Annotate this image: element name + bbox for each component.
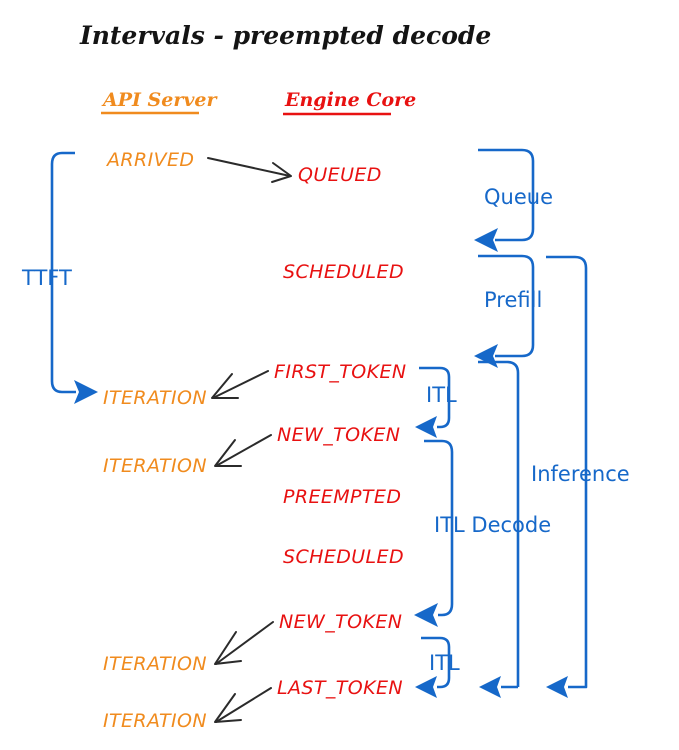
arrowhead-prefill	[474, 344, 498, 368]
arrowhead-itl-1	[415, 416, 437, 438]
interval-label-itl-1: ITL	[426, 383, 457, 407]
interval-label-itl-2: ITL	[429, 651, 460, 675]
interval-label-itl-decode: ITL Decode	[434, 513, 551, 537]
arrowhead-queue	[474, 228, 498, 252]
column-header-api-server: API Server	[101, 89, 218, 111]
column-header-engine-core: Engine Core	[284, 89, 416, 111]
state-engine-last-token: LAST_TOKEN	[277, 677, 403, 699]
page-title: Intervals - preempted decode	[79, 21, 491, 50]
state-api-arrived: ARRIVED	[105, 149, 194, 171]
state-engine-first-token: FIRST_TOKEN	[274, 361, 407, 383]
transition-arrow-first-token-to-iteration	[212, 371, 268, 398]
arrowhead-itl-decode	[414, 603, 438, 627]
transition-arrow-arrived-to-queued	[208, 158, 291, 182]
state-api-iteration-4: ITERATION	[103, 710, 207, 732]
interval-label-ttft: TTFT	[21, 266, 72, 290]
arrowhead-ttft	[74, 380, 98, 404]
state-engine-scheduled-2: SCHEDULED	[283, 546, 404, 568]
transition-arrow-last-token-to-iteration	[215, 688, 271, 722]
transition-arrow-new-token-to-iteration-2	[215, 622, 273, 664]
arrowhead-inference	[546, 676, 568, 698]
state-engine-preempted: PREEMPTED	[283, 486, 401, 508]
state-api-iteration-1: ITERATION	[103, 387, 207, 409]
state-engine-queued: QUEUED	[298, 164, 382, 186]
transition-arrow-new-token-to-iteration-1	[215, 435, 271, 466]
interval-label-prefill: Prefill	[484, 288, 542, 312]
interval-label-inference: Inference	[531, 462, 630, 486]
state-engine-new-token-1: NEW_TOKEN	[277, 424, 400, 446]
state-engine-scheduled-1: SCHEDULED	[283, 261, 404, 283]
arrowhead-decode	[479, 676, 501, 698]
intervals-diagram: Intervals - preempted decode API Server …	[0, 0, 679, 750]
interval-label-queue: Queue	[484, 185, 553, 209]
state-engine-new-token-2: NEW_TOKEN	[279, 611, 402, 633]
state-api-iteration-2: ITERATION	[103, 455, 207, 477]
diagram-canvas: Intervals - preempted decode API Server …	[0, 0, 679, 750]
state-api-iteration-3: ITERATION	[103, 653, 207, 675]
interval-bracket-prefill	[474, 256, 533, 368]
arrowhead-itl-2	[415, 676, 437, 698]
